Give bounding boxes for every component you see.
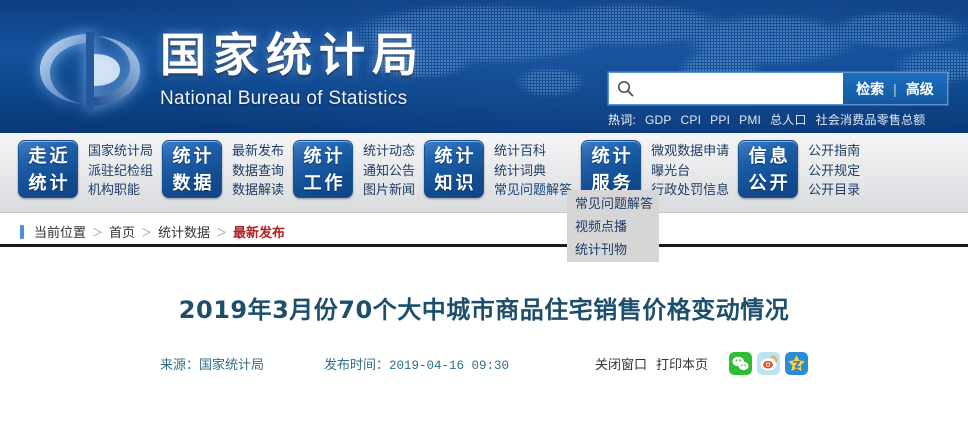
breadcrumb: 当前位置 ＞ 首页 ＞ 统计数据 ＞ 最新发布 <box>20 222 285 241</box>
nav-badge-statistical-knowledge[interactable]: 统计 知识 <box>424 140 484 198</box>
advanced-search-button[interactable]: 高级 <box>906 79 934 99</box>
nav-item-encyclopedia[interactable]: 统计百科 <box>494 141 572 161</box>
nbs-emblem-icon <box>34 18 146 122</box>
article-meta: 来源：国家统计局 发布时间：2019-04-16 09:30 关闭窗口 打印本页 <box>0 352 968 375</box>
share-icons <box>729 352 808 375</box>
nav-group-statistical-data: 统计 数据 最新发布 数据查询 数据解读 <box>162 133 284 200</box>
article-section: 2019年3月份70个大中城市商品住宅销售价格变动情况 来源：国家统计局 发布时… <box>0 249 968 375</box>
nav-item-announcements[interactable]: 通知公告 <box>363 161 415 181</box>
nav-badge-line1: 信息 <box>739 143 797 170</box>
article-source-label: 来源： <box>160 357 199 372</box>
nav-links-information-disclosure: 公开指南 公开规定 公开目录 <box>808 140 860 200</box>
hotword-gdp[interactable]: GDP <box>645 113 672 127</box>
breadcrumb-divider <box>0 244 968 247</box>
breadcrumb-label: 当前位置 <box>34 222 86 241</box>
nav-links-statistical-work: 统计动态 通知公告 图片新闻 <box>363 140 415 200</box>
close-window-button[interactable]: 关闭窗口 <box>595 354 647 373</box>
hotword-retail-sales[interactable]: 社会消费品零售总额 <box>816 111 926 128</box>
nav-badge-line1: 走近 <box>19 143 77 170</box>
article-time-value: 2019-04-16 09:30 <box>389 359 509 373</box>
nav-item-discipline-group[interactable]: 派驻纪检组 <box>88 161 153 181</box>
nav-item-faq[interactable]: 常见问题解答 <box>494 180 572 200</box>
hotword-cpi[interactable]: CPI <box>681 113 702 127</box>
nav-dropdown-statistical-knowledge[interactable]: 常见问题解答 视频点播 统计刊物 <box>567 190 659 262</box>
nav-group-statistical-work: 统计 工作 统计动态 通知公告 图片新闻 <box>293 133 415 200</box>
site-header: 国家统计局 National Bureau of Statistics 检索 |… <box>0 0 968 133</box>
dropdown-item-video[interactable]: 视频点播 <box>575 215 659 238</box>
search-area: 检索 | 高级 <box>608 72 948 105</box>
breadcrumb-current: 最新发布 <box>233 222 285 241</box>
dropdown-item-publications[interactable]: 统计刊物 <box>575 238 659 261</box>
nav-badge-line2: 数据 <box>163 170 221 197</box>
wechat-icon[interactable] <box>729 352 752 375</box>
breadcrumb-separator: ＞ <box>141 224 152 240</box>
site-title-en: National Bureau of Statistics <box>160 88 425 110</box>
breadcrumb-item-home[interactable]: 首页 <box>109 222 135 241</box>
search-submit-button[interactable]: 检索 <box>856 79 884 99</box>
nav-item-exposure-platform[interactable]: 曝光台 <box>651 161 729 181</box>
nav-group-information-disclosure: 信息 公开 公开指南 公开规定 公开目录 <box>738 133 860 200</box>
breadcrumb-separator: ＞ <box>216 224 227 240</box>
nav-badge-line1: 统计 <box>294 143 352 170</box>
nav-group-statistical-knowledge: 统计 知识 统计百科 统计词典 常见问题解答 <box>424 133 572 200</box>
dropdown-item-faq[interactable]: 常见问题解答 <box>575 192 659 215</box>
breadcrumb-item-statistical-data[interactable]: 统计数据 <box>158 222 210 241</box>
weibo-icon[interactable] <box>757 352 780 375</box>
nav-group-approach-statistics: 走近 统计 国家统计局 派驻纪检组 机构职能 <box>18 133 153 200</box>
nav-item-photo-news[interactable]: 图片新闻 <box>363 180 415 200</box>
nav-badge-statistical-data[interactable]: 统计 数据 <box>162 140 222 198</box>
hotword-ppi[interactable]: PPI <box>710 113 730 127</box>
nav-badge-line1: 统计 <box>582 143 640 170</box>
nav-links-approach-statistics: 国家统计局 派驻纪检组 机构职能 <box>88 140 153 200</box>
nav-item-penalty-info[interactable]: 行政处罚信息 <box>651 180 729 200</box>
nav-item-dictionary[interactable]: 统计词典 <box>494 161 572 181</box>
nav-links-statistical-data: 最新发布 数据查询 数据解读 <box>232 140 284 200</box>
nav-badge-line2: 统计 <box>19 170 77 197</box>
nav-badge-line1: 统计 <box>163 143 221 170</box>
breadcrumb-separator: ＞ <box>92 224 103 240</box>
article-actions: 关闭窗口 打印本页 <box>595 352 808 375</box>
hotword-pmi[interactable]: PMI <box>739 113 761 127</box>
search-separator: | <box>893 81 897 97</box>
print-page-button[interactable]: 打印本页 <box>656 354 708 373</box>
nav-badge-approach-statistics[interactable]: 走近 统计 <box>18 140 78 198</box>
nav-badge-line2: 工作 <box>294 170 352 197</box>
nav-item-nbs[interactable]: 国家统计局 <box>88 141 153 161</box>
nav-item-statistical-news[interactable]: 统计动态 <box>363 141 415 161</box>
nav-badge-line2: 知识 <box>425 170 483 197</box>
nav-item-data-interpretation[interactable]: 数据解读 <box>232 180 284 200</box>
nav-badge-statistical-work[interactable]: 统计 工作 <box>293 140 353 198</box>
nav-item-microdata-application[interactable]: 微观数据申请 <box>651 141 729 161</box>
nav-item-latest-release[interactable]: 最新发布 <box>232 141 284 161</box>
search-input[interactable] <box>609 73 843 104</box>
page-root: 国家统计局 National Bureau of Statistics 检索 |… <box>0 0 968 436</box>
nav-item-data-query[interactable]: 数据查询 <box>232 161 284 181</box>
qzone-icon[interactable] <box>785 352 808 375</box>
nav-badge-information-disclosure[interactable]: 信息 公开 <box>738 140 798 198</box>
nav-links-statistical-knowledge: 统计百科 统计词典 常见问题解答 <box>494 140 572 200</box>
search-buttons: 检索 | 高级 <box>843 73 947 104</box>
nav-item-disclosure-guide[interactable]: 公开指南 <box>808 141 860 161</box>
nav-item-disclosure-catalog[interactable]: 公开目录 <box>808 180 860 200</box>
article-source: 来源：国家统计局 <box>160 354 264 373</box>
breadcrumb-marker-icon <box>20 225 24 239</box>
nav-item-functions[interactable]: 机构职能 <box>88 180 153 200</box>
article-time-label: 发布时间： <box>324 357 389 372</box>
nav-badge-line1: 统计 <box>425 143 483 170</box>
hotword-population[interactable]: 总人口 <box>770 111 807 128</box>
hotwords-label: 热词: <box>608 111 636 128</box>
page-title: 2019年3月份70个大中城市商品住宅销售价格变动情况 <box>0 290 968 325</box>
article-source-value: 国家统计局 <box>199 357 264 372</box>
nav-item-disclosure-rules[interactable]: 公开规定 <box>808 161 860 181</box>
nav-badge-line2: 公开 <box>739 170 797 197</box>
hotwords-row: 热词: GDP CPI PPI PMI 总人口 社会消费品零售总额 <box>608 111 954 128</box>
breadcrumb-bar: 当前位置 ＞ 首页 ＞ 统计数据 ＞ 最新发布 <box>0 213 968 249</box>
search-box[interactable]: 检索 | 高级 <box>608 72 948 105</box>
site-title-cn: 国家统计局 <box>160 30 425 82</box>
nav-links-statistical-service: 微观数据申请 曝光台 行政处罚信息 <box>651 140 729 200</box>
main-navigation: 走近 统计 国家统计局 派驻纪检组 机构职能 统计 数据 最新发布 数据查询 数… <box>0 133 968 213</box>
article-publish-time: 发布时间：2019-04-16 09:30 <box>324 354 509 373</box>
site-brand[interactable]: 国家统计局 National Bureau of Statistics <box>34 18 425 122</box>
